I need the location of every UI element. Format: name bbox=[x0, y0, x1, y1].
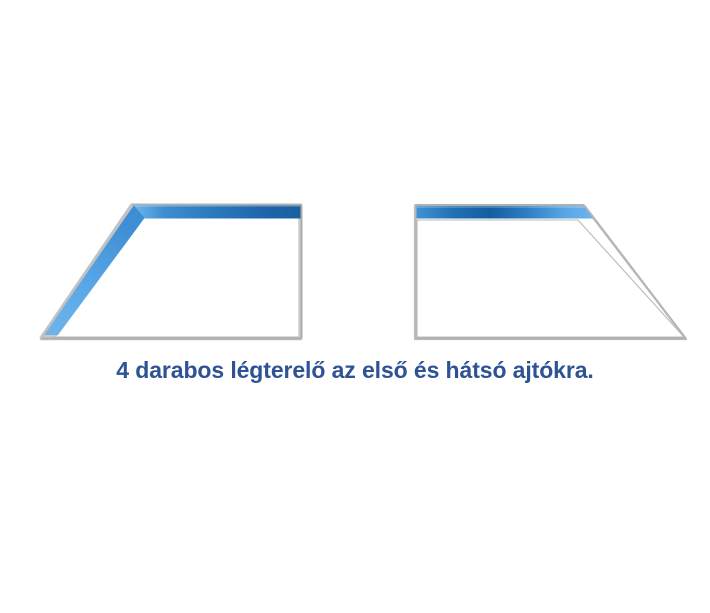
rear-door-deflector bbox=[415, 205, 687, 339]
deflector-illustration-svg bbox=[0, 190, 710, 350]
rear-deflector-panel bbox=[417, 220, 684, 337]
product-caption: 4 darabos légterelő az első és hátsó ajt… bbox=[0, 355, 710, 385]
page-canvas: 4 darabos légterelő az első és hátsó ajt… bbox=[0, 0, 710, 613]
front-door-deflector bbox=[39, 203, 302, 339]
product-illustration bbox=[0, 190, 710, 350]
